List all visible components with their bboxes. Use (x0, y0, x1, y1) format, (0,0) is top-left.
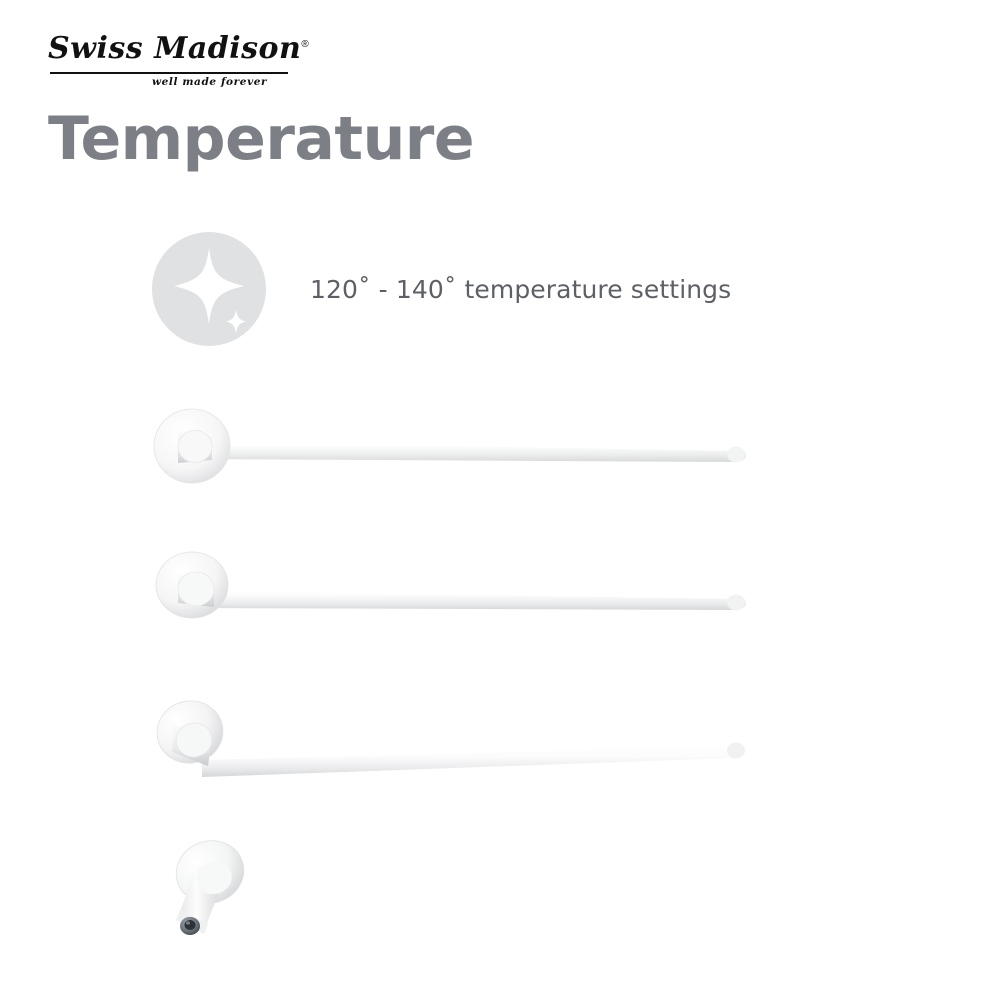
brand-tagline: well made forever (152, 76, 267, 88)
feature-row: 120˚ - 140˚ temperature settings (152, 232, 731, 346)
towel-bar-front-view (150, 400, 770, 500)
brand-underline-divider (50, 72, 288, 74)
feature-badge (152, 232, 266, 346)
page-title: Temperature (48, 108, 474, 171)
towel-bar-angled-view (150, 545, 770, 645)
feature-description: 120˚ - 140˚ temperature settings (310, 275, 731, 304)
towel-bar-mount-detail (150, 830, 350, 970)
registered-trademark-icon: ® (301, 39, 309, 50)
brand-name: Swiss Madison (48, 31, 301, 66)
brand-wordmark: Swiss Madison® (48, 34, 308, 64)
towel-bar-tilted-view (150, 690, 770, 800)
brand-logo: Swiss Madison® well made forever (48, 34, 308, 96)
